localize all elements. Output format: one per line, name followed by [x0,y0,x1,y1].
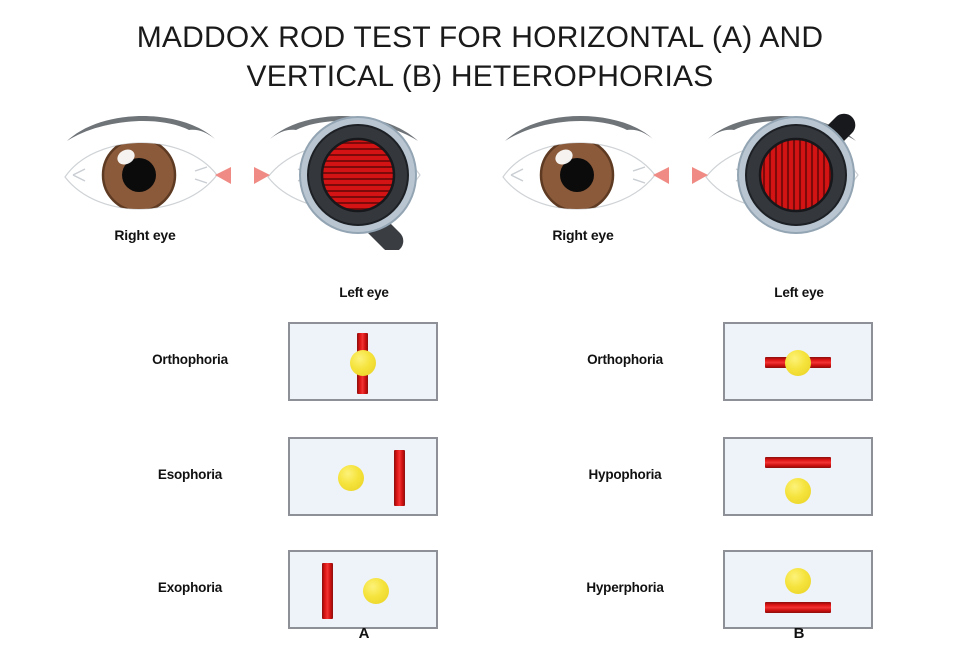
phoria-panel-b: Left eye Orthophoria Hypophoria Hyperpho… [540,285,870,655]
phoria-row: Esophoria [105,437,435,517]
fixation-light-mark [785,478,811,504]
maddox-rod-lens-horizontal-grooves-icon [250,105,430,250]
phoria-row: Orthophoria [105,322,435,402]
phoria-box-hyperphoria-b [723,550,873,629]
phoria-label-hyperphoria-b: Hyperphoria [540,580,710,595]
panel-a-footer: A [288,625,440,642]
phoria-label-orthophoria-a: Orthophoria [105,352,275,367]
page-title: MADDOX ROD TEST FOR HORIZONTAL (A) AND V… [0,18,960,96]
eye-open-brown-iris-icon [55,105,235,235]
phoria-row: Orthophoria [540,322,870,402]
fixation-light-mark [785,568,811,594]
right-eye-caption-b: Right eye [493,227,673,243]
phoria-label-orthophoria-b: Orthophoria [540,352,710,367]
fixation-light-mark [350,350,376,376]
right-eye-caption-a: Right eye [55,227,235,243]
maddox-rod-eye-illustration-b [688,105,868,265]
phoria-label-esophoria-a: Esophoria [105,467,275,482]
fixation-light-mark [363,578,389,604]
phoria-box-orthophoria-a [288,322,438,401]
right-eye-illustration-b: Right eye [493,105,673,265]
phoria-label-hypophoria-b: Hypophoria [540,467,710,482]
phoria-box-hypophoria-b [723,437,873,516]
eye-illustration-group-a: Right eye [55,105,435,265]
fixation-light-mark [338,465,364,491]
page-title-line-1: MADDOX ROD TEST FOR HORIZONTAL (A) AND [0,18,960,57]
maddox-rod-lens-vertical-grooves-icon [688,105,868,250]
maddox-line-mark [765,602,831,613]
eye-illustration-group-b: Right eye [493,105,873,265]
phoria-box-esophoria-a [288,437,438,516]
maddox-rod-eye-illustration-a [250,105,430,265]
panel-a-header: Left eye [288,285,440,300]
phoria-label-exophoria-a: Exophoria [105,580,275,595]
maddox-line-mark [322,563,333,619]
maddox-line-mark [765,457,831,468]
phoria-panel-a: Left eye Orthophoria Esophoria Exophoria… [105,285,435,655]
phoria-row: Exophoria [105,550,435,630]
page-title-line-2: VERTICAL (B) HETEROPHORIAS [0,57,960,96]
phoria-row: Hypophoria [540,437,870,517]
fixation-light-mark [785,350,811,376]
phoria-box-orthophoria-b [723,322,873,401]
eye-open-brown-iris-icon [493,105,673,235]
panel-b-footer: B [723,625,875,642]
panel-b-header: Left eye [723,285,875,300]
right-eye-illustration-a: Right eye [55,105,235,265]
phoria-row: Hyperphoria [540,550,870,630]
phoria-box-exophoria-a [288,550,438,629]
maddox-line-mark [394,450,405,506]
